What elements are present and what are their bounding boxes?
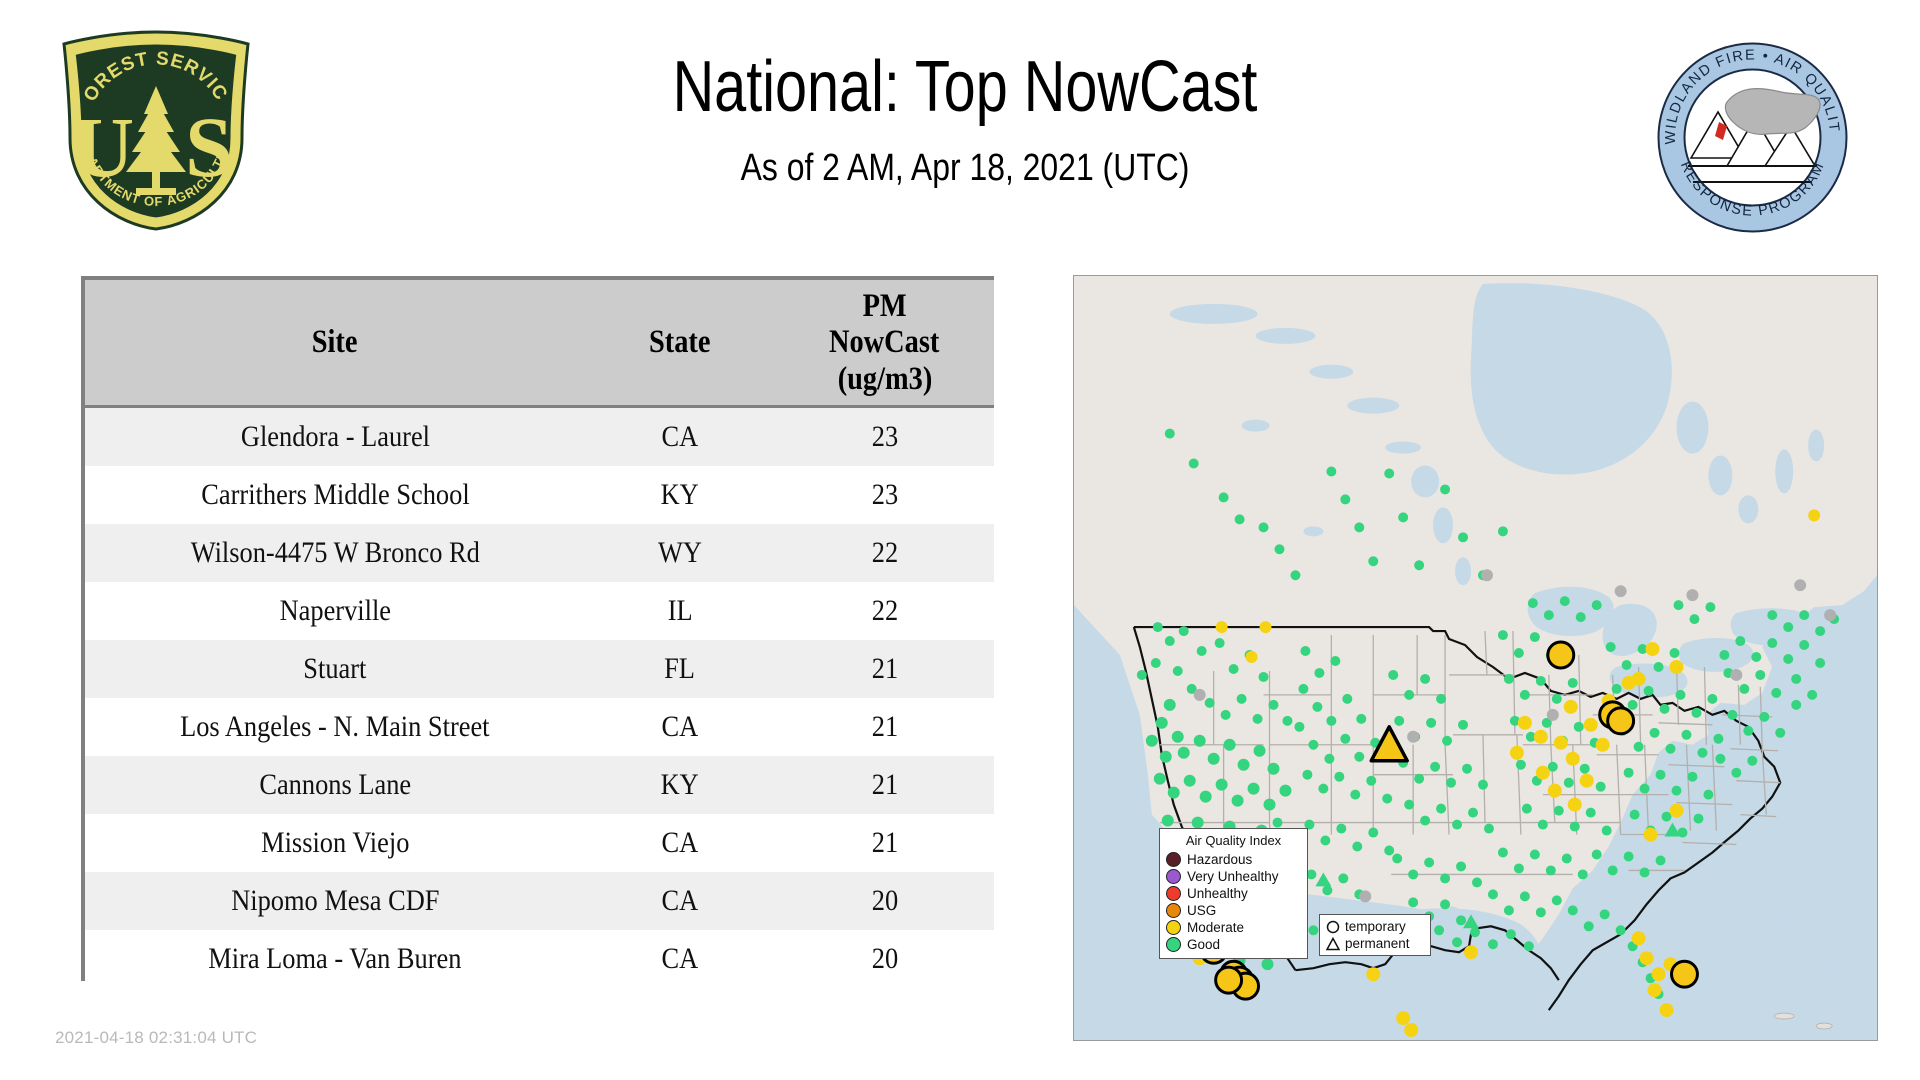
cell-site: Naperville <box>85 582 585 640</box>
cell-pm-label: 21 <box>871 826 897 860</box>
title-block: National: Top NowCast As of 2 AM, Apr 18… <box>300 50 1630 190</box>
top-site-marker-stuart <box>1672 961 1698 987</box>
cell-site-label: Los Angeles - N. Main Street <box>180 710 489 744</box>
cell-site-label: Stuart <box>303 652 366 686</box>
aqi-legend-items: HazardousVery UnhealthyUnhealthyUSGModer… <box>1166 851 1301 953</box>
top-site-marker-los-angeles <box>1216 967 1242 993</box>
column-header-pm-line2: NowCast <box>829 324 939 360</box>
top-nowcast-table: Site State PM NowCast (ug/m3) Glendora -… <box>81 276 994 981</box>
aqi-legend-row: Moderate <box>1166 919 1301 936</box>
cell-site: Mira Loma - Van Buren <box>85 930 585 988</box>
aqi-color-swatch-icon <box>1166 852 1181 867</box>
cell-state: CA <box>585 814 775 872</box>
aqi-legend-label: USG <box>1187 903 1216 918</box>
usfs-shield-logo: FOREST SERVICE U S DEPARTMENT OF AGRICUL… <box>56 28 256 233</box>
table-row: Los Angeles - N. Main StreetCA21 <box>85 698 994 756</box>
column-header-pm-line3: (ug/m3) <box>837 361 932 397</box>
cell-site-label: Mira Loma - Van Buren <box>208 942 461 976</box>
cell-state: WY <box>585 524 775 582</box>
cell-state-label: CA <box>662 942 699 976</box>
aqi-legend-row: Hazardous <box>1166 851 1301 868</box>
cell-state: CA <box>585 930 775 988</box>
aqi-legend-label: Unhealthy <box>1187 886 1248 901</box>
aqi-legend-title: Air Quality Index <box>1166 833 1301 848</box>
cell-pm: 21 <box>775 814 994 872</box>
generated-timestamp: 2021-04-18 02:31:04 UTC <box>55 1028 257 1048</box>
cell-site: Glendora - Laurel <box>85 407 585 467</box>
cell-pm: 21 <box>775 640 994 698</box>
wildland-fire-air-quality-response-program-logo: WILDLAND FIRE • AIR QUALITY RESPONSE PRO… <box>1655 40 1850 235</box>
aqi-color-swatch-icon <box>1166 886 1181 901</box>
symbol-legend-row-temporary: temporary <box>1325 918 1425 935</box>
table-row: Cannons LaneKY21 <box>85 756 994 814</box>
cell-pm-label: 21 <box>871 768 897 802</box>
aqi-legend-row: Very Unhealthy <box>1166 868 1301 885</box>
cell-site-label: Naperville <box>279 594 390 628</box>
cell-pm-label: 21 <box>871 710 897 744</box>
column-header-pm-line1: PM <box>862 288 906 324</box>
page-subtitle: As of 2 AM, Apr 18, 2021 (UTC) <box>406 147 1523 190</box>
cell-site: Stuart <box>85 640 585 698</box>
cell-site: Nipomo Mesa CDF <box>85 872 585 930</box>
column-header-site: Site <box>85 280 585 407</box>
table-row: Glendora - LaurelCA23 <box>85 407 994 467</box>
cell-site-label: Wilson-4475 W Bronco Rd <box>190 536 479 570</box>
cell-state-label: WY <box>658 536 702 570</box>
aqi-legend: Air Quality Index HazardousVery Unhealth… <box>1159 828 1308 959</box>
column-header-pm-nowcast: PM NowCast (ug/m3) <box>775 280 994 407</box>
table-header: Site State PM NowCast (ug/m3) <box>85 280 994 407</box>
cell-site: Los Angeles - N. Main Street <box>85 698 585 756</box>
aqi-legend-label: Moderate <box>1187 920 1244 935</box>
cell-site-label: Glendora - Laurel <box>240 420 429 454</box>
table-body: Glendora - LaurelCA23Carrithers Middle S… <box>85 407 994 989</box>
circle-icon <box>1325 919 1341 935</box>
cell-state: CA <box>585 407 775 467</box>
cell-state: KY <box>585 756 775 814</box>
aqi-color-swatch-icon <box>1166 937 1181 952</box>
air-quality-map[interactable]: Air Quality Index HazardousVery Unhealth… <box>1073 275 1878 1041</box>
table: Site State PM NowCast (ug/m3) Glendora -… <box>85 280 994 988</box>
cell-state: IL <box>585 582 775 640</box>
cell-state-label: FL <box>665 652 696 686</box>
table-row: StuartFL21 <box>85 640 994 698</box>
cell-state: CA <box>585 872 775 930</box>
table-row: Carrithers Middle SchoolKY23 <box>85 466 994 524</box>
symbol-legend-label-temporary: temporary <box>1345 919 1406 934</box>
aqi-legend-label: Hazardous <box>1187 852 1252 867</box>
cell-pm: 22 <box>775 524 994 582</box>
cell-state: KY <box>585 466 775 524</box>
aqi-color-swatch-icon <box>1166 903 1181 918</box>
cell-state-label: KY <box>661 478 699 512</box>
cell-state-label: IL <box>668 594 693 628</box>
cell-pm: 21 <box>775 698 994 756</box>
aqi-legend-row: USG <box>1166 902 1301 919</box>
cell-pm-label: 22 <box>871 536 897 570</box>
cell-pm: 23 <box>775 466 994 524</box>
triangle-icon <box>1325 936 1341 952</box>
cell-site-label: Carrithers Middle School <box>201 478 469 512</box>
column-header-site-label: Site <box>312 324 358 360</box>
cell-state-label: CA <box>662 420 699 454</box>
cell-pm-label: 22 <box>871 594 897 628</box>
aqi-legend-row: Unhealthy <box>1166 885 1301 902</box>
column-header-state-label: State <box>649 324 710 360</box>
table-header-row: Site State PM NowCast (ug/m3) <box>85 280 994 407</box>
cell-pm-label: 23 <box>871 478 897 512</box>
symbol-legend-row-permanent: permanent <box>1325 935 1425 952</box>
cell-state-label: CA <box>662 710 699 744</box>
cell-site: Cannons Lane <box>85 756 585 814</box>
table-row: Mira Loma - Van BurenCA20 <box>85 930 994 988</box>
cell-state-label: CA <box>662 826 699 860</box>
smoke-plume <box>1725 89 1820 135</box>
cell-pm-label: 20 <box>871 942 897 976</box>
table-row: Nipomo Mesa CDFCA20 <box>85 872 994 930</box>
top-site-marker-carrithers <box>1608 708 1634 734</box>
aqi-color-swatch-icon <box>1166 869 1181 884</box>
aqi-legend-label: Good <box>1187 937 1220 952</box>
cell-site: Carrithers Middle School <box>85 466 585 524</box>
column-header-state: State <box>585 280 775 407</box>
table-row: Mission ViejoCA21 <box>85 814 994 872</box>
cell-site: Wilson-4475 W Bronco Rd <box>85 524 585 582</box>
table-row: Wilson-4475 W Bronco RdWY22 <box>85 524 994 582</box>
cell-pm: 23 <box>775 407 994 467</box>
cell-site-label: Cannons Lane <box>259 768 411 802</box>
cell-pm-label: 20 <box>871 884 897 918</box>
symbol-legend: temporary permanent <box>1319 914 1431 956</box>
cell-state: FL <box>585 640 775 698</box>
symbol-legend-label-permanent: permanent <box>1345 936 1410 951</box>
aqi-legend-label: Very Unhealthy <box>1187 869 1279 884</box>
table-row: NapervilleIL22 <box>85 582 994 640</box>
cell-site-label: Nipomo Mesa CDF <box>231 884 439 918</box>
cell-pm: 20 <box>775 930 994 988</box>
page-title: National: Top NowCast <box>433 50 1497 125</box>
cell-pm: 20 <box>775 872 994 930</box>
cell-pm: 21 <box>775 756 994 814</box>
cell-state-label: CA <box>662 884 699 918</box>
cell-pm-label: 21 <box>871 652 897 686</box>
cell-pm-label: 23 <box>871 420 897 454</box>
cell-state: CA <box>585 698 775 756</box>
aqi-legend-row: Good <box>1166 936 1301 953</box>
aqi-color-swatch-icon <box>1166 920 1181 935</box>
cell-state-label: KY <box>661 768 699 802</box>
cell-pm: 22 <box>775 582 994 640</box>
top-site-marker-naperville <box>1548 642 1574 668</box>
cell-site-label: Mission Viejo <box>261 826 409 860</box>
cell-site: Mission Viejo <box>85 814 585 872</box>
